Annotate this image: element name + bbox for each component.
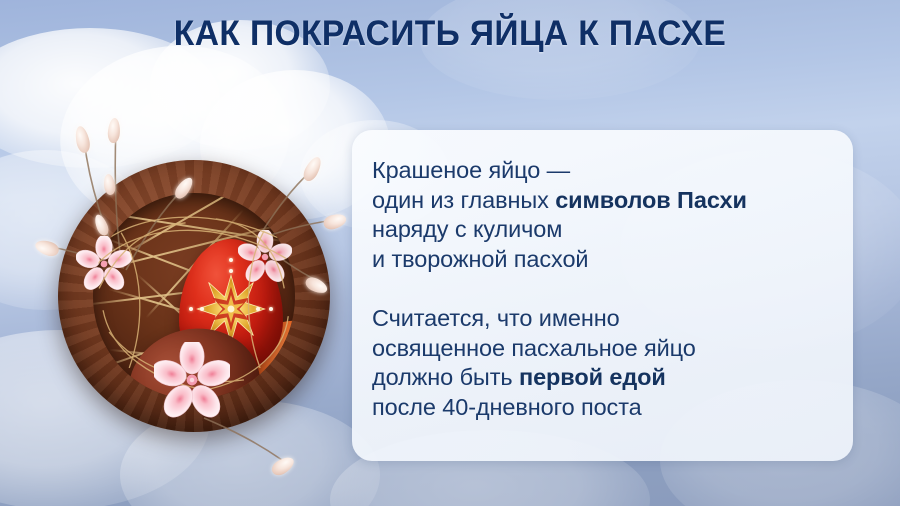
- easter-eggs-illustration: [44, 118, 344, 468]
- p1-line-3: наряду с куличом: [372, 216, 562, 242]
- p2-line-3-bold: первой едой: [519, 364, 666, 390]
- p1-line-1: Крашеное яйцо —: [372, 157, 570, 183]
- paragraph-two: Считается, что именно освященное пасхаль…: [372, 304, 833, 422]
- cherry-blossom-left: [76, 236, 132, 292]
- p1-line-4: и творожной пасхой: [372, 246, 588, 272]
- info-panel: Крашеное яйцо — один из главных символов…: [352, 130, 853, 461]
- cherry-blossom-bottom: [154, 342, 230, 418]
- p1-line-2-prefix: один из главных: [372, 187, 555, 213]
- p1-line-2-bold: символов Пасхи: [555, 187, 747, 213]
- cherry-blossom-right: [238, 230, 292, 284]
- paragraph-one: Крашеное яйцо — один из главных символов…: [372, 156, 833, 274]
- p2-line-4: после 40-дневного поста: [372, 394, 642, 420]
- p2-line-3-prefix: должно быть: [372, 364, 519, 390]
- p2-line-1: Считается, что именно: [372, 305, 620, 331]
- p2-line-2: освященное пасхальное яйцо: [372, 335, 696, 361]
- poster-title: КАК ПОКРАСИТЬ ЯЙЦА К ПАСХЕ: [18, 14, 882, 54]
- poster-canvas: КАК ПОКРАСИТЬ ЯЙЦА К ПАСХЕ: [0, 0, 900, 506]
